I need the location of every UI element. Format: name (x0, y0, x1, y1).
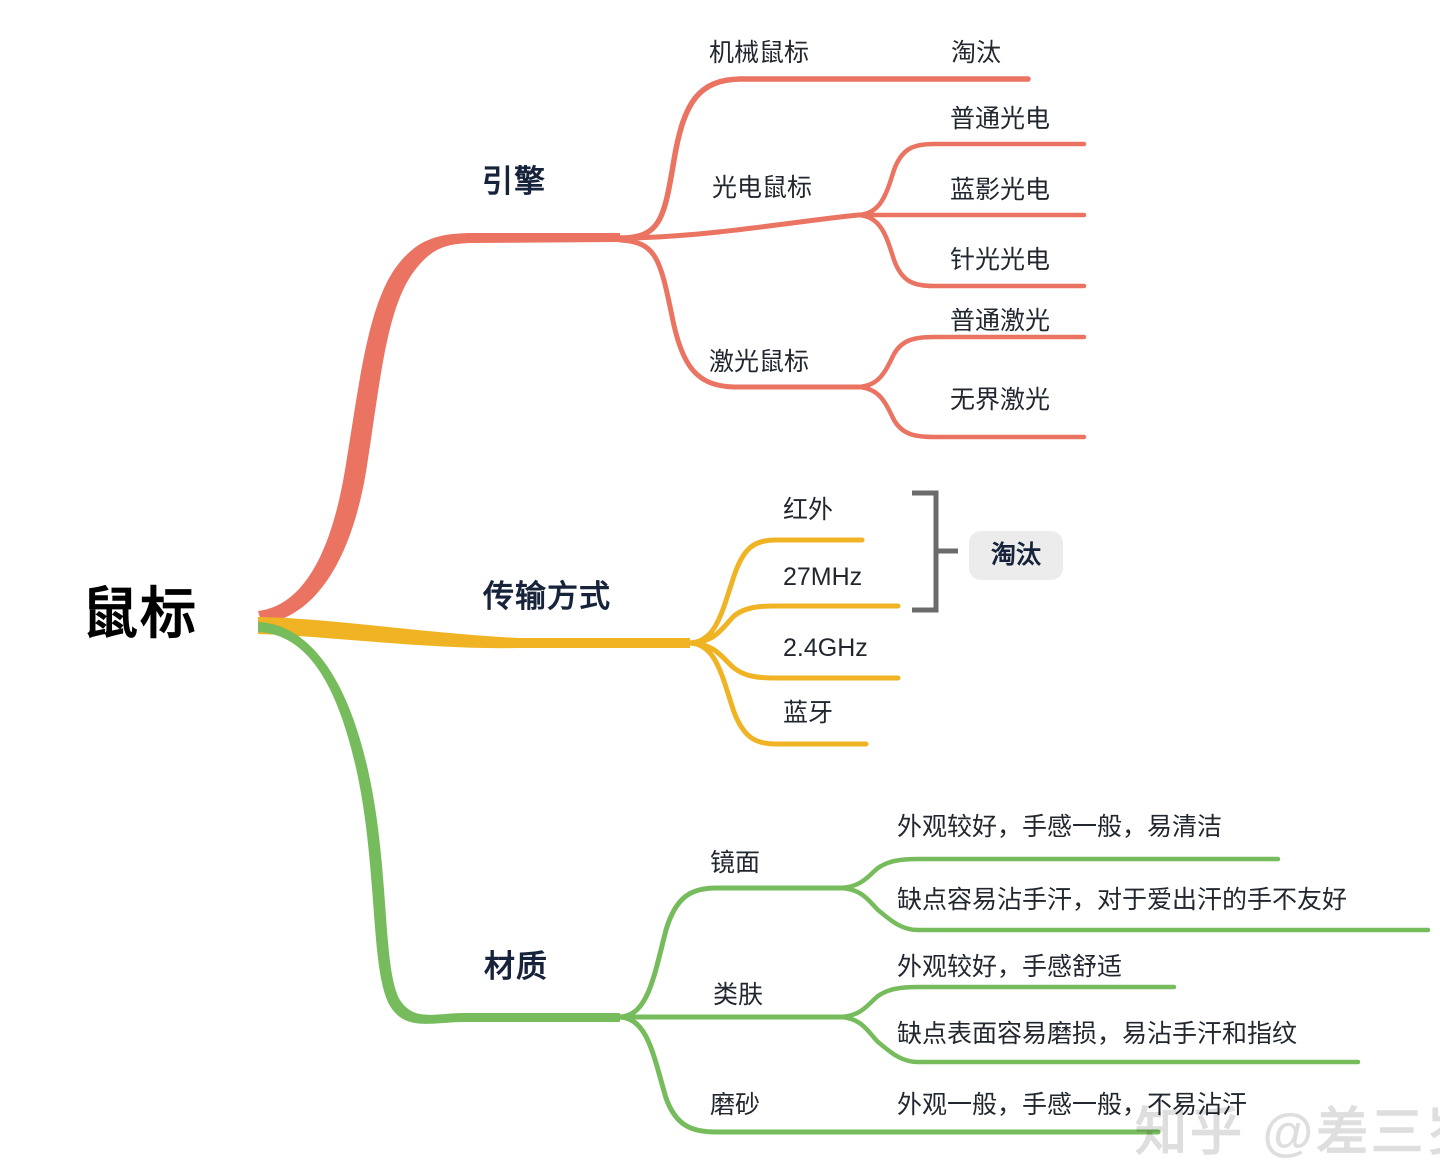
edge-leifu-pro (840, 987, 1174, 1017)
branch-label-transmission[interactable]: 传输方式 (483, 581, 611, 612)
node-label-optical-pin[interactable]: 针光光电 (950, 248, 1050, 273)
branch-label-engine[interactable]: 引擎 (482, 166, 546, 197)
node-label-infrared[interactable]: 红外 (783, 498, 833, 523)
node-label-laser-borderless[interactable]: 无界激光 (950, 388, 1050, 413)
edge-root-to-transmission (258, 617, 690, 648)
edge-laser-putong (858, 337, 1084, 387)
grouping-bracket (912, 493, 936, 610)
edge-root-to-engine (258, 233, 620, 624)
node-label-bluetooth[interactable]: 蓝牙 (783, 701, 833, 726)
edge-root-to-material (258, 622, 620, 1024)
mindmap-canvas: 鼠标 引擎 传输方式 材质 机械鼠标 光电鼠标 激光鼠标 淘汰 普通光电 蓝影光… (0, 0, 1440, 1167)
node-label-mirror-con[interactable]: 缺点容易沾手汗，对于爱出汗的手不友好 (897, 888, 1347, 913)
node-label-laser-mouse[interactable]: 激光鼠标 (709, 350, 809, 375)
node-label-24ghz[interactable]: 2.4GHz (783, 636, 868, 661)
node-label-mirror-surface[interactable]: 镜面 (710, 851, 760, 876)
node-label-skin-pro[interactable]: 外观较好，手感舒适 (897, 955, 1122, 980)
node-label-optical-mouse[interactable]: 光电鼠标 (712, 176, 812, 201)
node-label-mirror-pro[interactable]: 外观较好，手感一般，易清洁 (897, 815, 1222, 840)
watermark: 知乎 @差三岁 (1135, 1090, 1440, 1165)
status-badge-obsolete[interactable]: 淘汰 (969, 531, 1063, 580)
node-label-skin-con[interactable]: 缺点表面容易磨损，易沾手汗和指纹 (897, 1022, 1297, 1047)
edge-engine-optical (622, 215, 858, 238)
node-label-mechanical-obsolete[interactable]: 淘汰 (951, 41, 1001, 66)
root-node-label[interactable]: 鼠标 (82, 586, 198, 642)
node-label-optical-blue[interactable]: 蓝影光电 (950, 178, 1050, 203)
node-label-matte[interactable]: 磨砂 (710, 1093, 760, 1118)
node-label-laser-standard[interactable]: 普通激光 (950, 309, 1050, 334)
node-label-mechanical-mouse[interactable]: 机械鼠标 (709, 41, 809, 66)
edge-engine-mechanical (620, 79, 1028, 238)
edge-jingmian-pro (840, 859, 1278, 888)
node-label-27mhz[interactable]: 27MHz (783, 565, 862, 590)
node-label-optical-standard[interactable]: 普通光电 (950, 107, 1050, 132)
edge-trans-hongwai (690, 540, 862, 643)
node-label-skin-like[interactable]: 类肤 (713, 983, 763, 1008)
branch-label-material[interactable]: 材质 (484, 951, 548, 982)
